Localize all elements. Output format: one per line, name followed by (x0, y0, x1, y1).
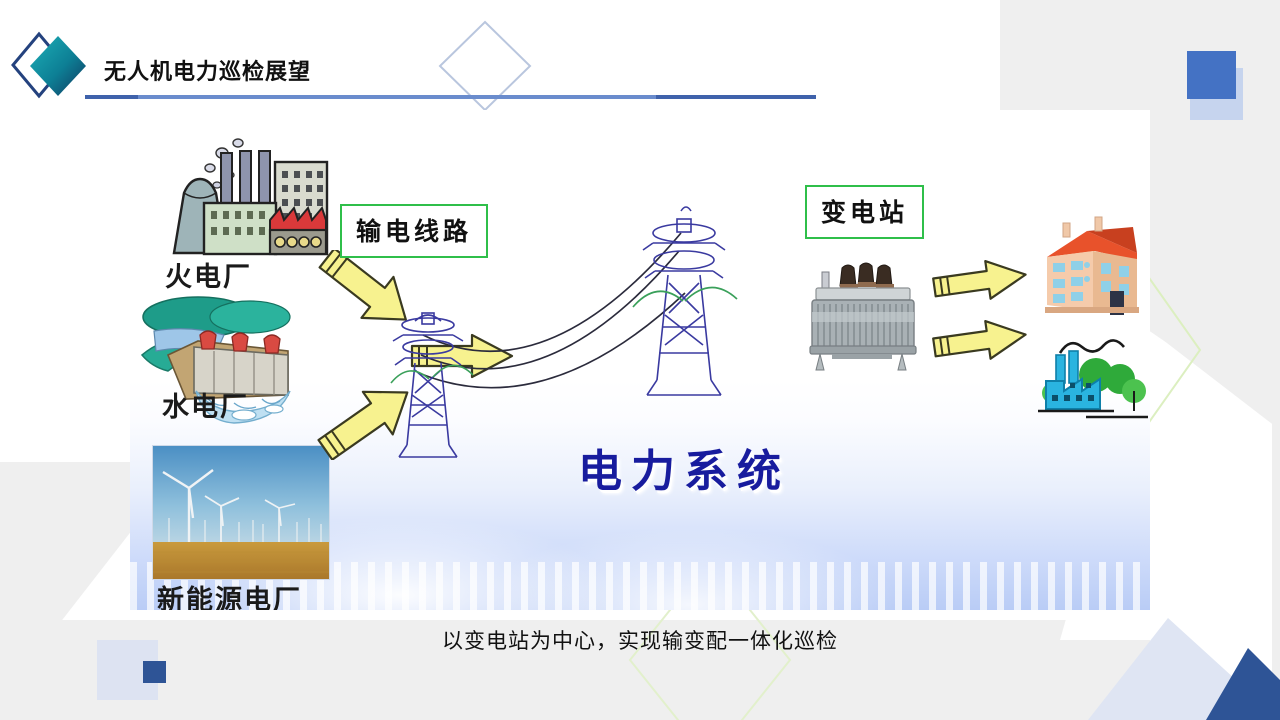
right-edge-strip (1272, 0, 1280, 720)
bottom-left-blue-square (143, 661, 166, 683)
arrow-substation-to-factory (930, 318, 1030, 364)
power-system-overlay-title: 电力系统 (578, 435, 790, 499)
hydro-plant-label: 水电厂 (162, 385, 249, 424)
right-grey-diagonal (1148, 0, 1280, 420)
substation-transformer-icon (802, 260, 922, 375)
logo-filled-diamond (30, 36, 86, 96)
top-right-blue-square (1187, 51, 1236, 99)
substation-label-box: 变电站 (805, 185, 924, 239)
residential-building-icon (1035, 215, 1145, 320)
bottom-right-blue-triangle (1206, 648, 1280, 720)
arrow-substation-to-building (930, 258, 1030, 304)
top-right-pale-square (1190, 68, 1243, 120)
logo-diamond-mark (8, 28, 94, 104)
page-title: 无人机电力巡检展望 (104, 54, 311, 86)
thermal-power-plant-icon (160, 135, 355, 260)
title-rule-segment-middle (138, 95, 656, 99)
power-system-diagram: 火电厂 水电厂 (130, 110, 1150, 610)
slide-canvas: 无人机电力巡检展望 (0, 0, 1280, 720)
bottom-left-grey (0, 690, 1150, 720)
right-grey-corner (1150, 110, 1280, 430)
renewable-plant-label: 新能源电厂 (157, 578, 302, 610)
left-wedge-diagonal (0, 462, 132, 600)
title-rule-segment-right (656, 95, 816, 99)
transmission-line-label-box: 输电线路 (340, 204, 488, 258)
right-grey-body (1148, 110, 1280, 420)
thermal-plant-label: 火电厂 (165, 255, 252, 294)
industrial-factory-icon (1030, 325, 1150, 420)
slide-caption: 以变电站为中心，实现输变配一体化巡检 (0, 625, 1280, 655)
left-wedge-shape (0, 462, 132, 705)
wind-farm-photo (152, 445, 330, 580)
title-rule-segment-left (85, 95, 138, 99)
